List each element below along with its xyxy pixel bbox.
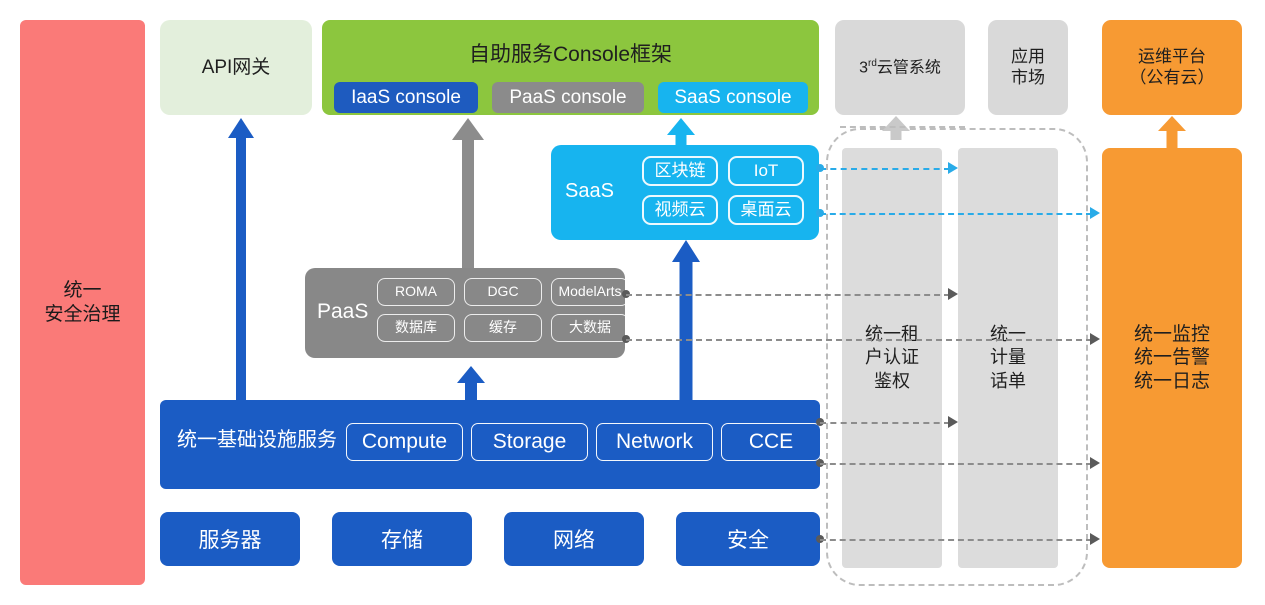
architecture-diagram-canvas: 统一 安全治理 API网关 自助服务Console框架 IaaS console… [0, 0, 1265, 605]
arrow-right-dashed-icon-saas-monitor [1090, 207, 1100, 219]
infra-item-storage[interactable]: Storage [471, 423, 588, 461]
unified-monitoring-label: 统一监控 统一告警 统一日志 [1134, 323, 1210, 393]
unified-infrastructure-label: 统一基础设施服务 [177, 428, 337, 452]
app-market-box[interactable]: 应用 市场 [988, 20, 1068, 115]
paas-item-roma[interactable]: ROMA [377, 278, 455, 306]
paas-item-modelarts[interactable]: ModelArts [551, 278, 629, 306]
connector-infra-to-auth [820, 422, 950, 424]
security-governance-label: 统一 安全治理 [44, 279, 120, 325]
paas-layer-box[interactable]: PaaS ROMA DGC ModelArts 数据库 缓存 大数据 [305, 268, 625, 358]
connector-paas-to-monitoring [626, 339, 1092, 341]
infra-item-network[interactable]: Network [596, 423, 713, 461]
unified-tenant-auth-bar[interactable]: 统一租 户认证 鉴权 [842, 148, 942, 568]
arrow-saas-to-console-icon [667, 118, 695, 145]
connector-saas-to-auth [820, 168, 950, 170]
hardware-item-security[interactable]: 安全 [676, 512, 820, 566]
saas-item-blockchain[interactable]: 区块链 [642, 156, 718, 186]
connector-paas-to-auth [626, 294, 950, 296]
saas-item-iot[interactable]: IoT [728, 156, 804, 186]
api-gateway-box[interactable]: API网关 [160, 20, 312, 115]
connector-to-third-party-cloud [840, 126, 965, 128]
ops-platform-label: 运维平台 （公有云） [1130, 47, 1215, 88]
self-service-console-frame[interactable]: 自助服务Console框架 IaaS console PaaS console … [322, 20, 819, 115]
arrow-right-dashed-icon-infra-auth [948, 416, 958, 428]
app-market-label: 应用 市场 [1011, 47, 1045, 88]
saas-console-chip[interactable]: SaaS console [658, 82, 808, 113]
third-party-cloud-management-box[interactable]: 3rd云管系统 [835, 20, 965, 115]
connector-saas-to-monitoring [820, 213, 1092, 215]
unified-infrastructure-bar[interactable]: 统一基础设施服务 Compute Storage Network CCE [160, 400, 820, 489]
hardware-item-storage[interactable]: 存储 [332, 512, 472, 566]
unified-metering-billing-label: 统一 计量 话单 [990, 323, 1026, 393]
saas-item-desktop-cloud[interactable]: 桌面云 [728, 195, 804, 225]
unified-monitoring-column[interactable]: 统一监控 统一告警 统一日志 [1102, 148, 1242, 568]
paas-item-dgc[interactable]: DGC [464, 278, 542, 306]
arrow-to-ops-platform-icon [1158, 116, 1186, 149]
connector-hardware-to-monitoring [820, 539, 1092, 541]
hardware-item-network[interactable]: 网络 [504, 512, 644, 566]
arrow-infrastructure-to-paas-icon [457, 366, 485, 401]
saas-layer-box[interactable]: SaaS 区块链 IoT 视频云 桌面云 [551, 145, 819, 240]
arrow-right-dashed-icon-infra-monitor [1090, 457, 1100, 469]
arrow-right-dashed-icon-paas-auth [948, 288, 958, 300]
ops-platform-box[interactable]: 运维平台 （公有云） [1102, 20, 1242, 115]
arrow-infrastructure-to-saas-icon [672, 240, 700, 401]
iaas-console-chip[interactable]: IaaS console [334, 82, 478, 113]
security-governance-column[interactable]: 统一 安全治理 [20, 20, 145, 585]
arrow-right-dashed-icon-hardware-monitor [1090, 533, 1100, 545]
saas-layer-label: SaaS [565, 179, 614, 203]
unified-tenant-auth-label: 统一租 户认证 鉴权 [865, 323, 919, 393]
arrow-paas-to-console-icon [452, 118, 484, 268]
third-party-label: 3rd云管系统 [859, 58, 941, 78]
connector-infra-to-monitoring [820, 463, 1092, 465]
api-gateway-label: API网关 [202, 56, 271, 79]
paas-item-bigdata[interactable]: 大数据 [551, 314, 629, 342]
paas-console-chip[interactable]: PaaS console [492, 82, 644, 113]
saas-item-video-cloud[interactable]: 视频云 [642, 195, 718, 225]
third-party-ordinal-sup: rd [868, 58, 877, 69]
arrow-to-third-party-cloud-icon [882, 116, 910, 140]
hardware-item-server[interactable]: 服务器 [160, 512, 300, 566]
arrow-right-dashed-icon-saas-auth [948, 162, 958, 174]
paas-item-cache[interactable]: 缓存 [464, 314, 542, 342]
arrow-right-dashed-icon-paas-monitor [1090, 333, 1100, 345]
console-frame-title: 自助服务Console框架 [322, 42, 819, 68]
arrow-infrastructure-to-api-gateway-icon [228, 118, 254, 400]
paas-layer-label: PaaS [317, 299, 368, 325]
infra-item-cce[interactable]: CCE [721, 423, 821, 461]
paas-item-database[interactable]: 数据库 [377, 314, 455, 342]
unified-metering-billing-bar[interactable]: 统一 计量 话单 [958, 148, 1058, 568]
infra-item-compute[interactable]: Compute [346, 423, 463, 461]
